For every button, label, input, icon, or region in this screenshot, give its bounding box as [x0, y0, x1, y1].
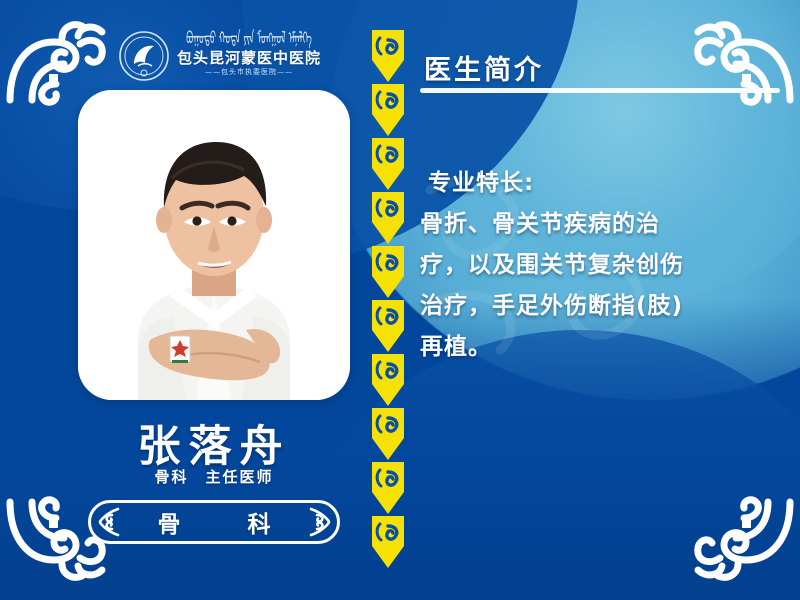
- swirl-ornament-icon: [307, 507, 333, 537]
- hospital-logo-text: ᠪᠤᠭᠤᠲᠤ ᠬᠣᠲᠠ ᠶᠢᠨ ᠮᠣᠩᠭᠣᠯ ᠡᠮᠨᠡᠯᠭᠡ 包头昆河蒙医中医院…: [177, 36, 321, 76]
- section-title-rule: [420, 88, 780, 93]
- hospital-mongolian-name: ᠪᠤᠭᠤᠲᠤ ᠬᠣᠲᠠ ᠶᠢᠨ ᠮᠣᠩᠭᠣᠯ ᠡᠮᠨᠡᠯᠭᠡ: [186, 32, 312, 49]
- bio-line: 疗，以及围关节复杂创伤: [420, 245, 785, 286]
- doctor-portrait: [78, 90, 350, 400]
- department-badge: 骨 科: [88, 500, 340, 544]
- doctor-name: 张落舟: [78, 412, 350, 474]
- bio-line: 再植。: [420, 327, 785, 368]
- hospital-emblem-icon: [118, 30, 170, 82]
- hospital-name: 包头昆河蒙医中医院: [177, 51, 321, 66]
- hospital-logo: ᠪᠤᠭᠤᠲᠤ ᠬᠣᠲᠠ ᠶᠢᠨ ᠮᠣᠩᠭᠣᠯ ᠡᠮᠨᠡᠯᠭᠡ 包头昆河蒙医中医院…: [118, 30, 321, 82]
- doctor-title-line: 骨科 主任医师: [78, 466, 350, 487]
- doctor-bio: 专业特长: 骨折、骨关节疾病的治 疗，以及围关节复杂创伤 治疗，手足外伤断指(肢…: [420, 163, 785, 368]
- doctor-profile-poster: ᠪᠤᠭᠤᠲᠤ ᠬᠣᠲᠠ ᠶᠢᠨ ᠮᠣᠩᠭᠣᠯ ᠡᠮᠨᠡᠯᠭᠡ 包头昆河蒙医中医院…: [0, 0, 800, 600]
- bio-line: 专业特长:: [420, 163, 785, 204]
- department-badge-label: 骨 科: [122, 505, 307, 539]
- doctor-photo-card: [78, 90, 350, 400]
- bio-line: 骨折、骨关节疾病的治: [420, 204, 785, 245]
- section-title: 医生简介: [424, 48, 544, 87]
- swirl-ornament-icon: [96, 507, 122, 537]
- mongolian-zigzag-pattern-icon: [370, 30, 406, 570]
- bio-line: 治疗，手足外伤断指(肢): [420, 286, 785, 327]
- hospital-subtitle: ——包头市执委医院——: [205, 69, 293, 76]
